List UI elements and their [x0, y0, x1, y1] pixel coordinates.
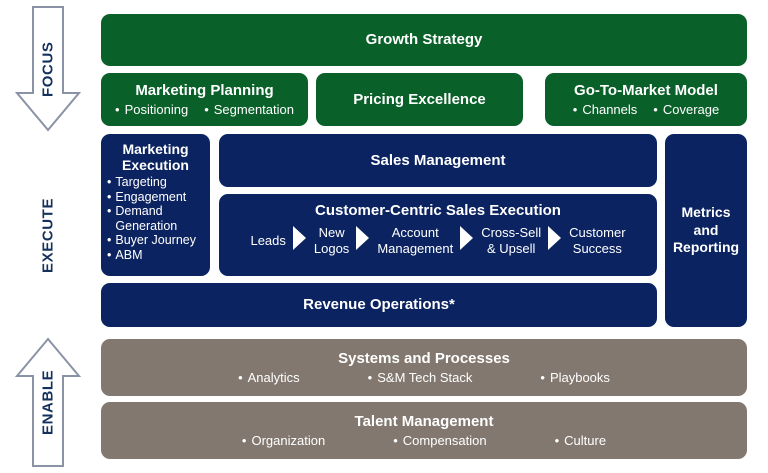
card-growth-strategy[interactable]: Growth Strategy [101, 14, 747, 66]
bullet-dot: • [238, 370, 243, 385]
card-go-to-market-model[interactable]: Go-To-Market Model •Channels •Coverage [545, 73, 747, 126]
flow-stage[interactable]: Leads [250, 233, 285, 248]
bullet-dot: • [242, 433, 247, 448]
bullet-label: Culture [564, 433, 606, 448]
chevron-right-icon [547, 225, 563, 256]
diagram-canvas: FOCUS EXECUTE ENABLE Growth Strategy Mar… [0, 0, 768, 473]
card-bullet-list: •Targeting •Engagement •Demand Generatio… [107, 175, 204, 262]
card-revenue-operations[interactable]: Revenue Operations* [101, 283, 657, 327]
bullet-dot: • [107, 204, 111, 219]
card-bullets: •Analytics •S&M Tech Stack •Playbooks [101, 370, 747, 386]
phase-label-focus: FOCUS [14, 5, 82, 133]
flow-stage[interactable]: Customer Success [569, 225, 625, 256]
bullet-item: •S&M Tech Stack [368, 370, 473, 386]
chevron-right-icon [292, 225, 308, 256]
flow-stage[interactable]: Cross-Sell & Upsell [481, 225, 541, 256]
bullet-item: •Playbooks [540, 370, 610, 386]
card-title: Go-To-Market Model [574, 82, 718, 99]
bullet-label: Targeting [115, 175, 204, 190]
bullet-label: Playbooks [550, 370, 610, 385]
bullet-dot: • [107, 233, 111, 248]
bullet-label: Organization [251, 433, 325, 448]
bullet-dot: • [540, 370, 545, 385]
flow-stage[interactable]: Account Management [377, 225, 453, 256]
card-systems-and-processes[interactable]: Systems and Processes •Analytics •S&M Te… [101, 339, 747, 396]
card-title: Customer-Centric Sales Execution [315, 202, 561, 219]
bullet-label: Buyer Journey [115, 233, 204, 248]
bullet-item: •Organization [242, 433, 325, 449]
bullet-item: •Analytics [238, 370, 300, 386]
bullet-dot: • [555, 433, 560, 448]
card-title: Systems and Processes [338, 350, 510, 367]
bullet-label: Channels [582, 102, 637, 117]
bullet-label: Positioning [125, 102, 189, 117]
phase-label-execute: EXECUTE [14, 140, 82, 330]
card-title-line1: Marketing [107, 141, 204, 157]
card-title: Sales Management [370, 152, 505, 169]
flow-stage[interactable]: New Logos [314, 225, 349, 256]
bullet-label: S&M Tech Stack [377, 370, 472, 385]
bullet-dot: • [368, 370, 373, 385]
card-title: Talent Management [355, 413, 494, 430]
bullet-item: •ABM [107, 248, 204, 263]
bullet-label: Coverage [663, 102, 719, 117]
chevron-right-icon [459, 225, 475, 256]
phase-band-focus: FOCUS [14, 5, 82, 133]
card-customer-centric-sales-execution[interactable]: Customer-Centric Sales Execution Leads N… [219, 194, 657, 276]
bullet-item: •Culture [555, 433, 606, 449]
card-bullets: •Channels •Coverage [545, 102, 747, 118]
card-title: Pricing Excellence [353, 91, 486, 108]
bullet-label: Segmentation [214, 102, 294, 117]
bullet-item: •Positioning [115, 102, 188, 118]
bullet-item: •Engagement [107, 190, 204, 205]
bullet-label: Analytics [248, 370, 300, 385]
card-sales-management[interactable]: Sales Management [219, 134, 657, 187]
card-bullets: •Organization •Compensation •Culture [101, 433, 747, 449]
bullet-dot: • [573, 102, 578, 117]
card-title: Marketing Execution [107, 141, 204, 173]
bullet-dot: • [115, 102, 120, 117]
card-pricing-excellence[interactable]: Pricing Excellence [316, 73, 523, 126]
card-title-line2: Execution [107, 157, 204, 173]
phase-band-execute: EXECUTE [14, 140, 82, 330]
bullet-label: Compensation [403, 433, 487, 448]
bullet-item: •Buyer Journey [107, 233, 204, 248]
phase-rail: FOCUS EXECUTE ENABLE [0, 0, 96, 473]
card-talent-management[interactable]: Talent Management •Organization •Compens… [101, 402, 747, 459]
phase-label-enable: ENABLE [14, 336, 82, 469]
phase-band-enable: ENABLE [14, 336, 82, 469]
bullet-dot: • [393, 433, 398, 448]
bullet-dot: • [107, 175, 111, 190]
bullet-label: Demand Generation [115, 204, 204, 233]
bullet-label: ABM [115, 248, 204, 263]
bullet-dot: • [653, 102, 658, 117]
bullet-item: •Demand Generation [107, 204, 204, 233]
bullet-item: •Segmentation [204, 102, 294, 118]
bullet-dot: • [204, 102, 209, 117]
bullet-item: •Channels [573, 102, 638, 118]
card-bullets: •Positioning •Segmentation [101, 102, 308, 118]
bullet-item: •Compensation [393, 433, 486, 449]
card-marketing-planning[interactable]: Marketing Planning •Positioning •Segment… [101, 73, 308, 126]
bullet-item: •Coverage [653, 102, 719, 118]
card-title: Revenue Operations* [303, 296, 455, 313]
bullet-dot: • [107, 190, 111, 205]
card-marketing-execution[interactable]: Marketing Execution •Targeting •Engageme… [101, 134, 210, 276]
chevron-right-icon [355, 225, 371, 256]
bullet-label: Engagement [115, 190, 204, 205]
card-title: Metrics and Reporting [673, 204, 739, 257]
sales-stage-flow: Leads New Logos Account Management Cross… [219, 225, 657, 256]
card-title: Growth Strategy [366, 31, 483, 48]
bullet-item: •Targeting [107, 175, 204, 190]
card-title: Marketing Planning [135, 82, 273, 99]
bullet-dot: • [107, 248, 111, 263]
card-metrics-and-reporting[interactable]: Metrics and Reporting [665, 134, 747, 327]
